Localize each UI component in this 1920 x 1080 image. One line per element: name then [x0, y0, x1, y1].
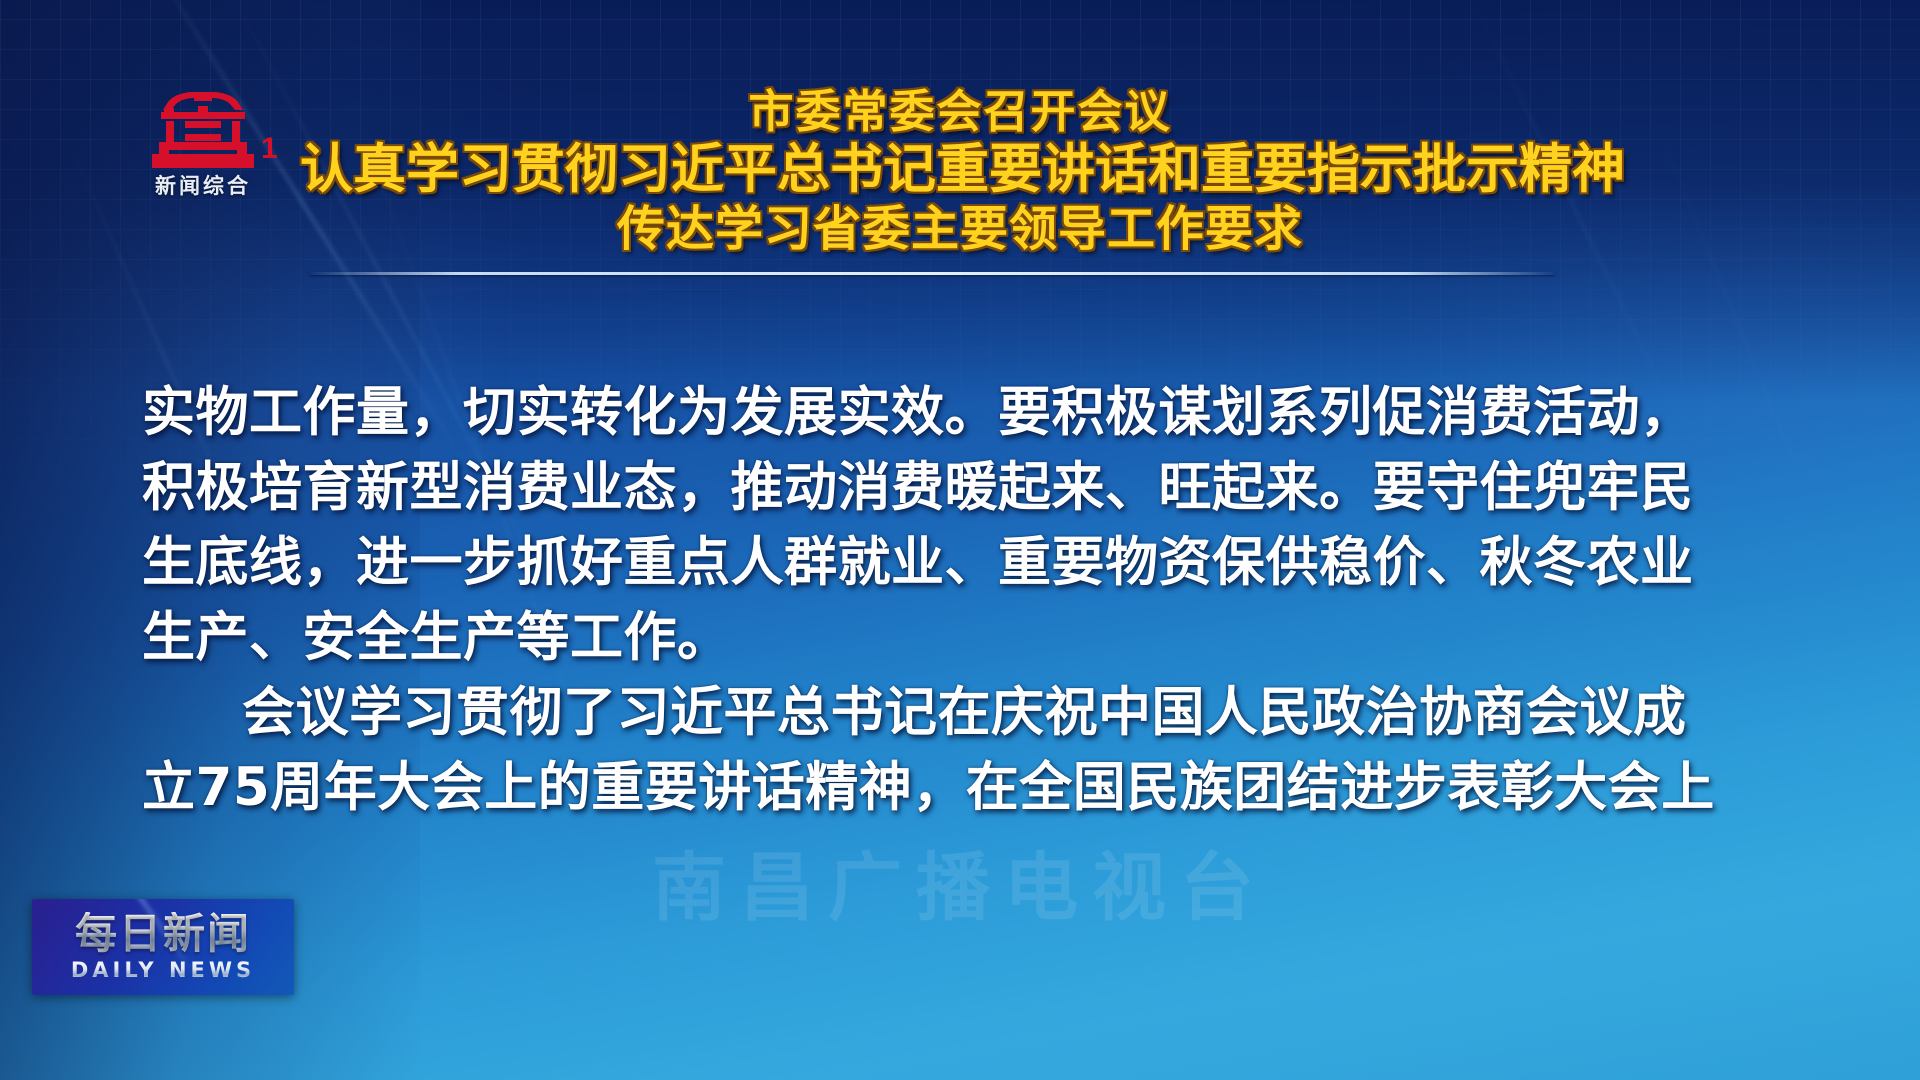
- pavilion-logo-icon: 1: [128, 86, 278, 168]
- body-line: 积极培育新型消费业态，推动消费暖起来、旺起来。要守住兜牢民: [142, 450, 1442, 525]
- broadcast-screen: 南昌广播电视台: [0, 0, 1920, 1080]
- channel-name-label: 新闻综合: [128, 170, 278, 200]
- channel-logo: 1 新闻综合: [128, 86, 278, 200]
- headline-line-2: 认真学习贯彻习近平总书记重要讲话和重要指示批示精神: [300, 142, 1620, 198]
- body-line: 生底线，进一步抓好重点人群就业、重要物资保供稳价、秋冬农业: [142, 525, 1442, 600]
- headline-divider: [310, 272, 1555, 275]
- body-line: 立75周年大会上的重要讲话精神，在全国民族团结进步表彰大会上: [142, 750, 1442, 825]
- body-text-block: 实物工作量，切实转化为发展实效。要积极谋划系列促消费活动， 积极培育新型消费业态…: [142, 375, 1442, 825]
- program-bug: 每日新闻 DAILY NEWS: [32, 899, 294, 995]
- channel-number-label: 1: [261, 132, 278, 165]
- program-title-cn: 每日新闻: [75, 912, 251, 956]
- headline-line-1: 市委常委会召开会议: [300, 88, 1620, 136]
- headline-line-3: 传达学习省委主要领导工作要求: [300, 204, 1620, 255]
- body-line: 生产、安全生产等工作。: [142, 600, 1442, 675]
- body-line: 实物工作量，切实转化为发展实效。要积极谋划系列促消费活动，: [142, 375, 1442, 450]
- program-title-en: DAILY NEWS: [71, 958, 255, 982]
- body-line: 会议学习贯彻了习近平总书记在庆祝中国人民政治协商会议成: [142, 675, 1442, 750]
- headline-block: 市委常委会召开会议 认真学习贯彻习近平总书记重要讲话和重要指示批示精神 传达学习…: [300, 88, 1620, 255]
